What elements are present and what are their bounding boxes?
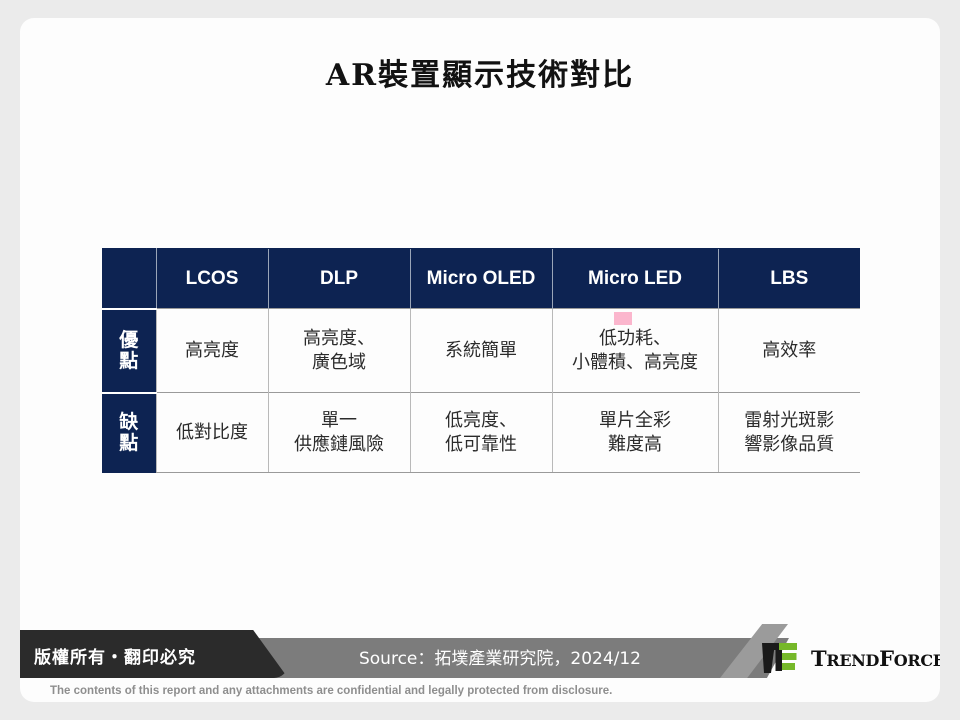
cell-advantages-micro-led: 低功耗、 小體積、高亮度: [552, 309, 718, 393]
row-label-char: 缺: [102, 412, 156, 433]
column-header-lcos: LCOS: [156, 249, 268, 309]
column-header-dlp: DLP: [268, 249, 410, 309]
cell-line: 低亮度、: [415, 409, 548, 433]
table-row: 缺 點 低對比度 單一 供應鏈風險 低亮度、 低可靠性: [102, 393, 860, 473]
source-note: Source：拓墣產業研究院，2024/12: [260, 644, 740, 669]
logo-text-rend: REND: [826, 651, 879, 670]
column-header-micro-oled: Micro OLED: [410, 249, 552, 309]
trendforce-logo: TRENDFORCE: [742, 638, 940, 678]
page-title: AR裝置顯示技術對比: [20, 50, 940, 94]
cell-line: 高亮度、: [273, 327, 406, 351]
comparison-table: LCOS DLP Micro OLED Micro LED LBS 優 點 高亮…: [102, 248, 860, 473]
table-corner-cell: [102, 249, 156, 309]
cell-disadvantages-dlp: 單一 供應鏈風險: [268, 393, 410, 473]
row-label-char: 點: [102, 351, 156, 372]
cell-line: 低對比度: [161, 421, 264, 445]
cell-line: 低可靠性: [415, 433, 548, 457]
cell-line: 高效率: [723, 339, 857, 363]
cell-line: 低功耗、: [557, 327, 714, 351]
row-label-char: 點: [102, 433, 156, 454]
table-row: 優 點 高亮度 高亮度、 廣色域 系統簡單 低功耗、: [102, 309, 860, 393]
trendforce-logo-text: TRENDFORCE: [811, 646, 940, 671]
cell-line: 響影像品質: [723, 433, 857, 457]
cell-advantages-lcos: 高亮度: [156, 309, 268, 393]
cell-disadvantages-lcos: 低對比度: [156, 393, 268, 473]
cell-disadvantages-micro-oled: 低亮度、 低可靠性: [410, 393, 552, 473]
column-header-lbs: LBS: [718, 249, 860, 309]
cell-line: 單片全彩: [557, 409, 714, 433]
logo-text-orce: ORCE: [894, 651, 940, 670]
cell-line: 系統簡單: [415, 339, 548, 363]
slide-canvas: 拓墣 TOPOLOGY RESEARCH INSTITUTE AR裝置顯示技術對…: [20, 18, 940, 702]
cell-advantages-lbs: 高效率: [718, 309, 860, 393]
cell-line: 高亮度: [161, 339, 264, 363]
trendforce-logo-mark-icon: [762, 643, 804, 673]
cell-line: 供應鏈風險: [273, 433, 406, 457]
pink-highlight-marker: [614, 312, 632, 325]
cell-line: 小體積、高亮度: [557, 351, 714, 375]
column-header-micro-led: Micro LED: [552, 249, 718, 309]
comparison-table-wrapper: LCOS DLP Micro OLED Micro LED LBS 優 點 高亮…: [102, 248, 860, 473]
copyright-notice: 版權所有・翻印必究: [34, 643, 196, 668]
cell-line: 難度高: [557, 433, 714, 457]
table-body: 優 點 高亮度 高亮度、 廣色域 系統簡單 低功耗、: [102, 309, 860, 473]
cell-disadvantages-micro-led: 單片全彩 難度高: [552, 393, 718, 473]
row-label-disadvantages: 缺 點: [102, 393, 156, 473]
cell-line: 廣色域: [273, 351, 406, 375]
cell-line: 單一: [273, 409, 406, 433]
logo-text-t: T: [811, 646, 826, 671]
table-header: LCOS DLP Micro OLED Micro LED LBS: [102, 249, 860, 309]
row-label-advantages: 優 點: [102, 309, 156, 393]
row-label-char: 優: [102, 330, 156, 351]
table-header-row: LCOS DLP Micro OLED Micro LED LBS: [102, 249, 860, 309]
cell-advantages-micro-oled: 系統簡單: [410, 309, 552, 393]
confidentiality-disclaimer: The contents of this report and any atta…: [50, 685, 612, 697]
logo-text-f: F: [879, 646, 894, 671]
cell-line: 雷射光斑影: [723, 409, 857, 433]
cell-advantages-dlp: 高亮度、 廣色域: [268, 309, 410, 393]
cell-disadvantages-lbs: 雷射光斑影 響影像品質: [718, 393, 860, 473]
